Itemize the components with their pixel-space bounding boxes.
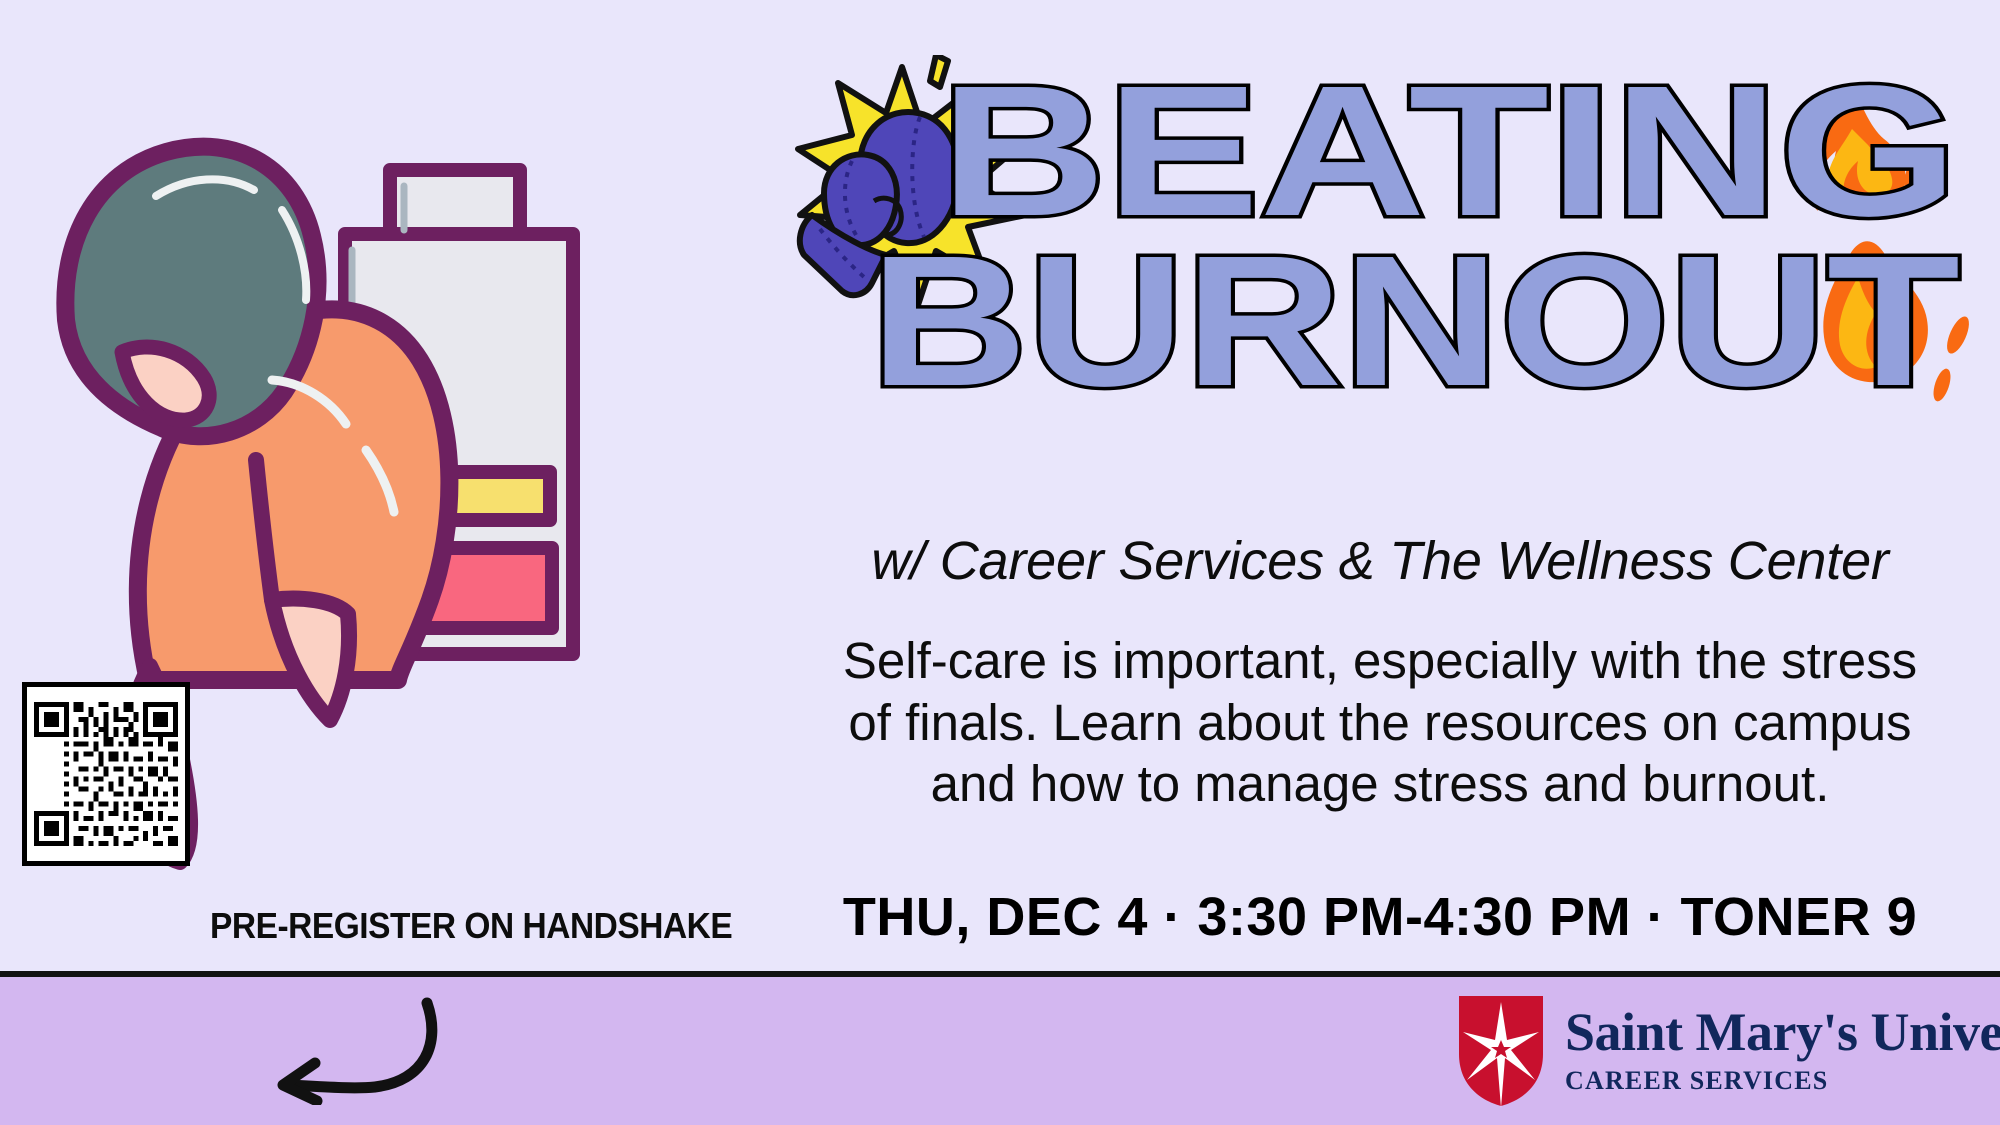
poster-canvas: PRE-REGISTER ON HANDSHAKE (0, 0, 2000, 1125)
qr-code[interactable] (22, 682, 190, 866)
headline-block: BEATING BURNOUT (790, 55, 1980, 405)
subtitle: w/ Career Services & The Wellness Center (760, 530, 2000, 592)
logo-department: CAREER SERVICES (1565, 1066, 2000, 1096)
pre-register-label: PRE-REGISTER ON HANDSHAKE (210, 905, 732, 947)
curved-arrow-icon (255, 995, 455, 1105)
body-copy: Self-care is important, especially with … (780, 630, 1980, 815)
logo-text-block: Saint Mary's University CAREER SERVICES (1565, 1005, 2000, 1096)
body-line-2: of finals. Learn about the resources on … (780, 692, 1980, 754)
event-details: THU, DEC 4 · 3:30 PM-4:30 PM · TONER 9 (760, 886, 2000, 948)
headline-line-2: BURNOUT (870, 218, 1960, 405)
body-line-3: and how to manage stress and burnout. (780, 753, 1980, 815)
shield-star-icon (1455, 992, 1547, 1110)
qr-code-icon (34, 694, 178, 854)
logo-university-name: Saint Mary's University (1565, 1005, 2000, 1059)
university-logo: Saint Mary's University CAREER SERVICES (1455, 988, 1975, 1113)
body-line-1: Self-care is important, especially with … (780, 630, 1980, 692)
